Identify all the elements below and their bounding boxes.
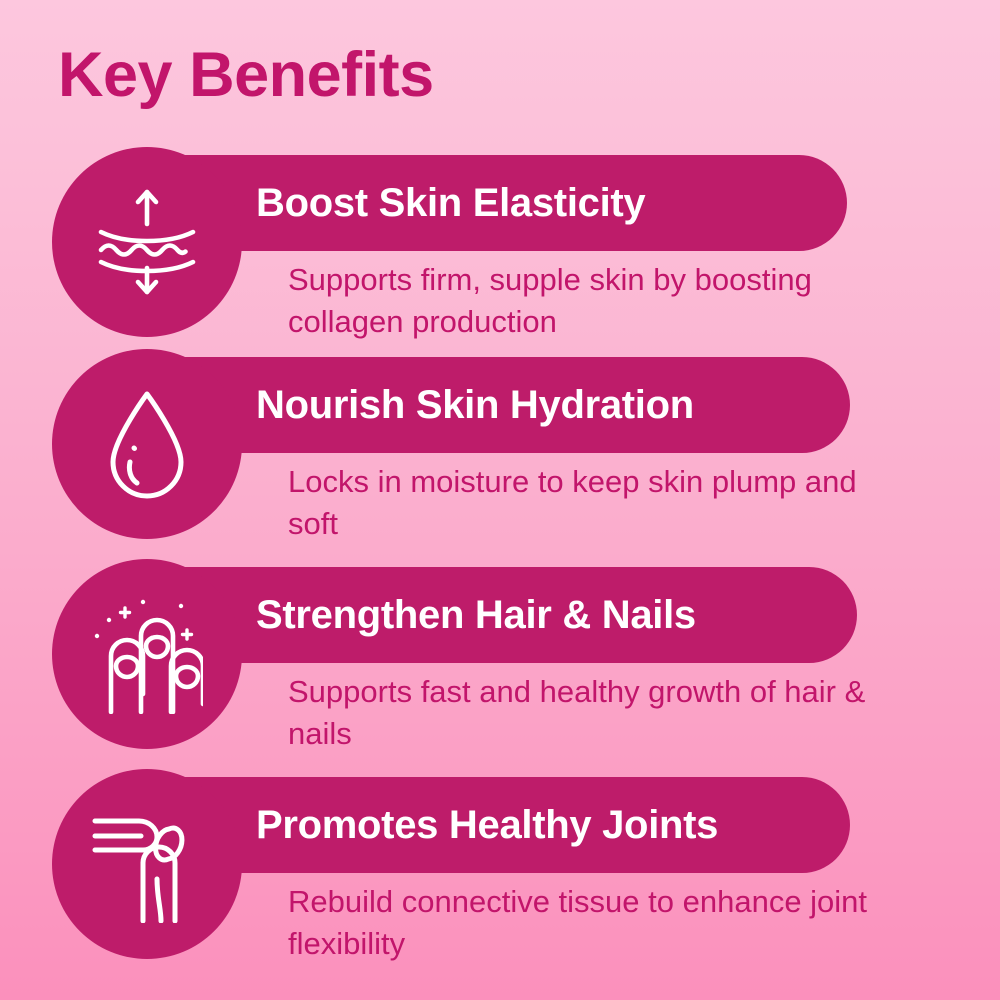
bone-joint-icon bbox=[91, 805, 203, 923]
skin-elasticity-icon bbox=[95, 184, 199, 300]
benefit-description: Supports firm, supple skin by boosting c… bbox=[288, 259, 888, 342]
benefit-icon-circle bbox=[52, 147, 242, 337]
benefit-icon-circle bbox=[52, 769, 242, 959]
key-benefits-infographic: Key Benefits Boost Skin Elasticity bbox=[0, 0, 1000, 1000]
page-title: Key Benefits bbox=[58, 42, 434, 108]
benefit-description: Locks in moisture to keep skin plump and… bbox=[288, 461, 888, 544]
benefit-description: Rebuild connective tissue to enhance joi… bbox=[288, 881, 888, 964]
benefit-description: Supports fast and healthy growth of hair… bbox=[288, 671, 888, 754]
nails-sparkle-icon bbox=[91, 594, 203, 714]
benefit-title: Promotes Healthy Joints bbox=[256, 777, 718, 873]
benefit-title: Strengthen Hair & Nails bbox=[256, 567, 696, 663]
benefit-title: Nourish Skin Hydration bbox=[256, 357, 694, 453]
benefit-icon-circle bbox=[52, 349, 242, 539]
water-drop-icon bbox=[104, 386, 190, 502]
benefit-icon-circle bbox=[52, 559, 242, 749]
benefit-title: Boost Skin Elasticity bbox=[256, 155, 645, 251]
